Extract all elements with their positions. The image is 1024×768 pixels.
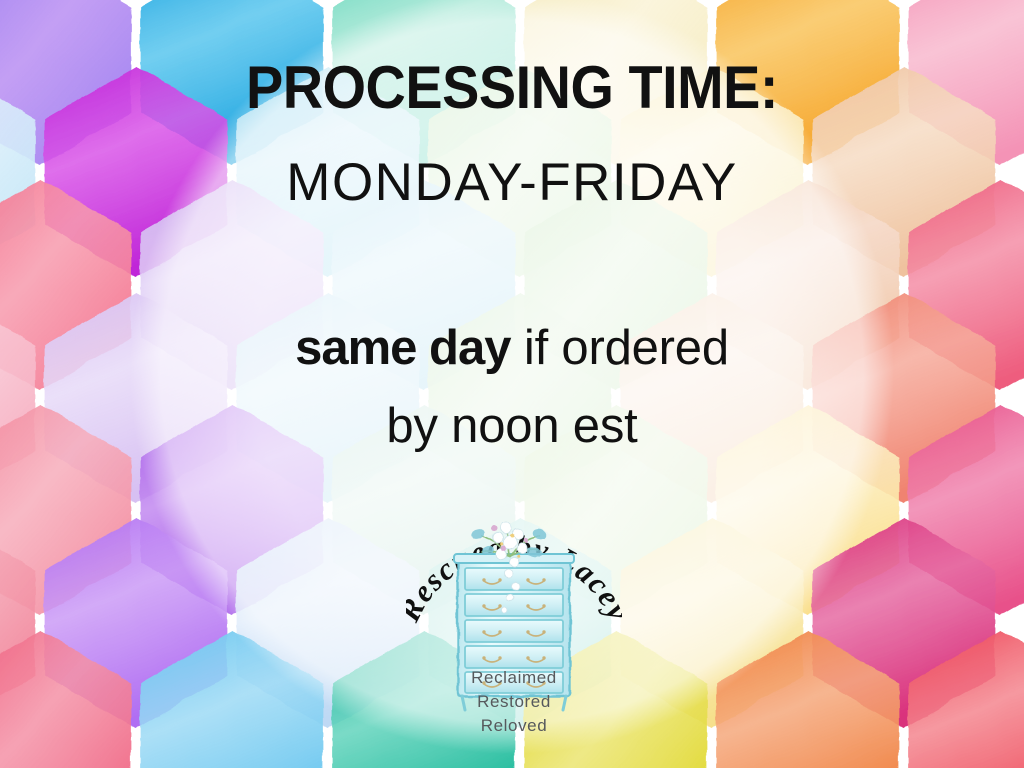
tagline-line-2: Restored [406, 692, 622, 712]
tagline-line-1: Reclaimed [406, 668, 622, 688]
processing-time-graphic: PROCESSING TIME: MONDAY-FRIDAY same day … [0, 0, 1024, 768]
tagline-line-3: Reloved [406, 716, 622, 736]
